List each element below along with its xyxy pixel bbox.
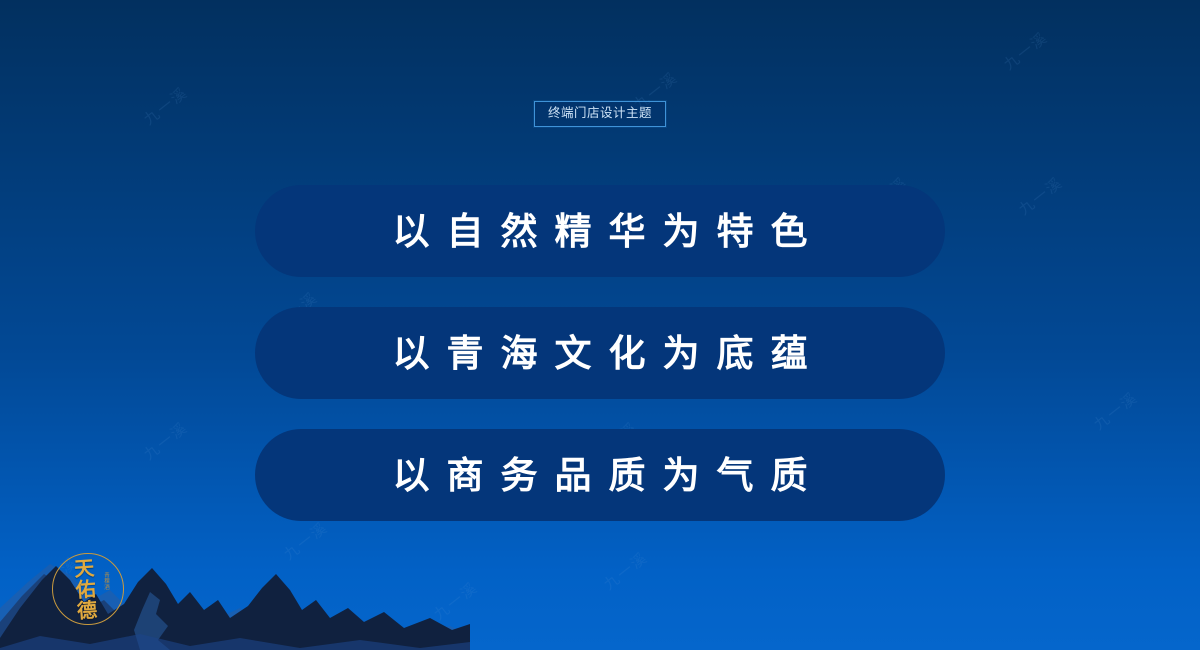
brand-logo-name: 天佑德 [71,557,95,621]
watermark-mark: 九一溪 [599,547,652,595]
slide-canvas: 九一溪 九一溪 九一溪 九一溪 九一溪 九一溪 九一溪 九一溪 九一溪 九一溪 … [0,0,1200,650]
statement-rows: 以自然精华为特色 以青海文化为底蕴 以商务品质为气质 [0,185,1200,521]
brand-logo: 天佑德 青稞酒 [52,553,124,625]
statement-text-3: 以商务品质为气质 [376,457,825,494]
brand-logo-subtext: 青稞酒 [102,572,109,590]
statement-text-1: 以自然精华为特色 [376,213,825,250]
slide-topic-badge: 终端门店设计主题 [534,101,666,127]
statement-pill-2: 以青海文化为底蕴 [255,307,945,399]
statement-pill-1: 以自然精华为特色 [255,185,945,277]
watermark-mark: 九一溪 [999,27,1052,75]
statement-pill-3: 以商务品质为气质 [255,429,945,521]
statement-text-2: 以青海文化为底蕴 [376,335,825,372]
badge-container: 终端门店设计主题 [0,101,1200,127]
